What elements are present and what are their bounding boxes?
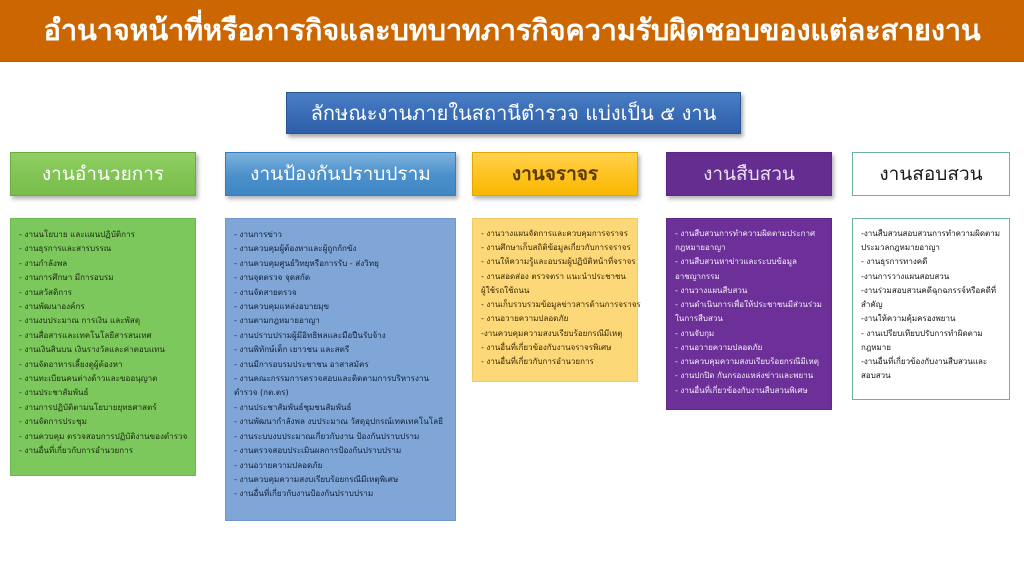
list-item: - งานตามกฎหมายอาญา <box>234 313 448 327</box>
list-item: - งานอื่นที่เกี่ยวข้องกับงานสืบสวนพิเศษ <box>675 384 824 398</box>
list-item: ประมวลกฎหมายอาญา <box>861 241 1002 255</box>
list-item: - งานการศึกษา มีการอบรม <box>19 270 188 284</box>
task-list: -งานสืบสวนสอบสวนการทำความผิดตามประมวลกฎห… <box>861 227 1002 384</box>
list-item: - งานการข่าว <box>234 227 448 241</box>
list-item: ผู้ใช้รถใช้ถนน <box>481 284 630 298</box>
slide-root: อำนาจหน้าที่หรือภารกิจและบทบาทภารกิจความ… <box>0 0 1024 576</box>
column-body-suepsuan: - งานสืบสวนการทำความผิดตามประกาศกฎหมายอา… <box>666 218 832 410</box>
task-list: - งานนโยบาย และแผนปฏิบัติการ- งานธุรการแ… <box>19 227 188 458</box>
list-item: - งานควบคุมศูนย์วิทยุหรือการรับ - ส่งวิท… <box>234 256 448 270</box>
list-item: - งานจัดสายตรวจ <box>234 285 448 299</box>
list-item: - งานให้ความรู้และอบรมผู้ปฏิบัติหน้าที่จ… <box>481 255 630 269</box>
list-item: - งานควบคุมผู้ต้องหาและผู้ถูกกักขัง <box>234 241 448 255</box>
list-item: - งานจับกุม <box>675 327 824 341</box>
list-item: กฎหมายอาญา <box>675 241 824 255</box>
list-item: - งานอวายความปลอดภัย <box>675 341 824 355</box>
list-item: - งานสอดส่อง ตรวจตรา แนะนำประชาชน <box>481 270 630 284</box>
list-item: - งานประชาสัมพันธ์ <box>19 385 188 399</box>
task-list: - งานสืบสวนการทำความผิดตามประกาศกฎหมายอา… <box>675 227 824 398</box>
task-list: - งานการข่าว- งานควบคุมผู้ต้องหาและผู้ถู… <box>234 227 448 501</box>
list-item: สำคัญ <box>861 298 1002 312</box>
list-item: - งานเงินสินบน เงินรางวัลและค่าตอบแทน <box>19 342 188 356</box>
page-title: อำนาจหน้าที่หรือภารกิจและบทบาทภารกิจความ… <box>44 15 981 45</box>
list-item: - งานสืบสวนการทำความผิดตามประกาศ <box>675 227 824 241</box>
list-item: - งานวางแผนจัดการและควบคุมการจราจร <box>481 227 630 241</box>
list-item: - งานอื่นที่เกี่ยวข้องกับงานจราจรพิเศษ <box>481 341 630 355</box>
column-header-pongkan-prappram[interactable]: งานป้องกันปราบปราม <box>225 152 456 196</box>
column-header-label: งานป้องกันปราบปราม <box>250 159 431 189</box>
list-item: - งานมีการอบรมประชาชน อาสาสมัคร <box>234 357 448 371</box>
list-item: -งานควบคุมความสงบเรียบร้อยกรณีมีเหตุ <box>481 327 630 341</box>
list-item: - งานการปฏิบัติตามนโยบายยุทธศาสตร์ <box>19 400 188 414</box>
list-item: - งานประชาสัมพันธ์ชุมชนสัมพันธ์ <box>234 400 448 414</box>
list-item: ในการสืบสวน <box>675 312 824 326</box>
list-item: - งานอื่นที่เกี่ยวกับการอำนวยการ <box>19 443 188 457</box>
list-item: - งานสื่อสารและเทคโนโลยีสารสนเทศ <box>19 328 188 342</box>
column-header-suepsuan[interactable]: งานสืบสวน <box>666 152 832 196</box>
list-item: -งานให้ความคุ้มครองพยาน <box>861 312 1002 326</box>
column-header-amnuaykan[interactable]: งานอำนวยการ <box>10 152 196 196</box>
list-item: - งานควบคุมความสงบเรียบร้อยกรณีมีเหตุ <box>675 355 824 369</box>
list-item: - งานดำเนินการเพื่อให้ประชาชนมีส่วนร่วม <box>675 298 824 312</box>
list-item: - งานตรวจสอบประเมินผลการป้องกันปราบปราม <box>234 443 448 457</box>
list-item: กฎหมาย <box>861 341 1002 355</box>
list-item: - งานจัดการประชุม <box>19 414 188 428</box>
column-body-amnuaykan: - งานนโยบาย และแผนปฏิบัติการ- งานธุรการแ… <box>10 218 196 476</box>
list-item: - งานวางแผนสืบสวน <box>675 284 824 298</box>
list-item: - งานศึกษาเก็บสถิติข้อมูลเกี่ยวกับการจรา… <box>481 241 630 255</box>
list-item: - งานปกปิด กันกรองแหล่งข่าวและพยาน <box>675 369 824 383</box>
list-item: - งานจุดตรวจ จุดสกัด <box>234 270 448 284</box>
column-header-label: งานจราจร <box>512 159 598 189</box>
list-item: - งานทะเบียนคนต่างด้าวและขออนุญาต <box>19 371 188 385</box>
list-item: - งานเก็บรวบรวมข้อมูลข่าวสารด้านการจราจร <box>481 298 630 312</box>
list-item: - งานคณะกรรมการตรวจสอบและติดตามการบริหาร… <box>234 371 448 385</box>
title-banner: อำนาจหน้าที่หรือภารกิจและบทบาทภารกิจความ… <box>0 0 1024 62</box>
column-body-pongkan-prappram: - งานการข่าว- งานควบคุมผู้ต้องหาและผู้ถู… <box>225 218 456 521</box>
list-item: -งานสืบสวนสอบสวนการทำความผิดตาม <box>861 227 1002 241</box>
list-item: - งานควบคุม ตรวจสอบการปฏิบัติงานของตำรวจ <box>19 429 188 443</box>
list-item: - งานอวายความปลอดภัย <box>234 458 448 472</box>
list-item: -งานร่วมสอบสวนคดีฉุกฉกรรจ์หรือคดีที่ <box>861 284 1002 298</box>
list-item: -งานการวางแผนสอบสวน <box>861 270 1002 284</box>
list-item: สอบสวน <box>861 369 1002 383</box>
column-body-sopsuan: -งานสืบสวนสอบสวนการทำความผิดตามประมวลกฎห… <box>852 218 1010 400</box>
subtitle-box: ลักษณะงานภายในสถานีตำรวจ แบ่งเป็น ๕ งาน <box>286 92 741 134</box>
column-header-label: งานอำนวยการ <box>42 159 164 189</box>
list-item: - งานงบประมาณ การเงิน และพัสดุ <box>19 313 188 327</box>
list-item: - งานอื่นที่เกี่ยวกับการอำนวยการ <box>481 355 630 369</box>
list-item: ตำรวจ (กต.ตร) <box>234 385 448 399</box>
column-header-label: งานสืบสวน <box>703 159 795 189</box>
list-item: - งานธุรการทางคดี <box>861 255 1002 269</box>
column-body-charachon: - งานวางแผนจัดการและควบคุมการจราจร- งานศ… <box>472 218 638 382</box>
column-header-label: งานสอบสวน <box>879 159 982 189</box>
list-item: - งานจัดอาหารเลี้ยงดูผู้ต้องหา <box>19 357 188 371</box>
task-list: - งานวางแผนจัดการและควบคุมการจราจร- งานศ… <box>481 227 630 369</box>
list-item: - งานพัฒนาองค์กร <box>19 299 188 313</box>
list-item: - งานนโยบาย และแผนปฏิบัติการ <box>19 227 188 241</box>
list-item: - งานพัฒนากำลังพล งบประมาณ วัสดุอุปกรณ์เ… <box>234 414 448 428</box>
column-header-charachon[interactable]: งานจราจร <box>472 152 638 196</box>
list-item: - งานอวายความปลอดภัย <box>481 312 630 326</box>
list-item: -งานอื่นที่เกี่ยวข้องกับงานสืบสวนและ <box>861 355 1002 369</box>
list-item: - งานกำลังพล <box>19 256 188 270</box>
list-item: - งานพิทักษ์เด็ก เยาวชน และสตรี <box>234 342 448 356</box>
list-item: - งานสืบสวนหาข่าวและระบบข้อมูล <box>675 255 824 269</box>
list-item: - งานธุรการและสารบรรณ <box>19 241 188 255</box>
list-item: - งานอื่นที่เกี่ยวกับงานป้องกันปราบปราม <box>234 486 448 500</box>
column-header-sopsuan[interactable]: งานสอบสวน <box>852 152 1010 196</box>
list-item: อาชญากรรม <box>675 270 824 284</box>
subtitle-text: ลักษณะงานภายในสถานีตำรวจ แบ่งเป็น ๕ งาน <box>311 97 717 129</box>
list-item: - งานระบบงบประมาณเกี่ยวกับงาน ป้องกันปรา… <box>234 429 448 443</box>
list-item: - งานเปรียบเทียบปรับการทำผิดตาม <box>861 327 1002 341</box>
list-item: - งานปราบปรามผู้มีอิทธิพลและมือปืนรับจ้า… <box>234 328 448 342</box>
list-item: - งานสวัสดิการ <box>19 285 188 299</box>
list-item: - งานควบคุมความสงบเรียบร้อยกรณีมีเหตุพิเ… <box>234 472 448 486</box>
list-item: - งานควบคุมแหล่งอบายมุข <box>234 299 448 313</box>
